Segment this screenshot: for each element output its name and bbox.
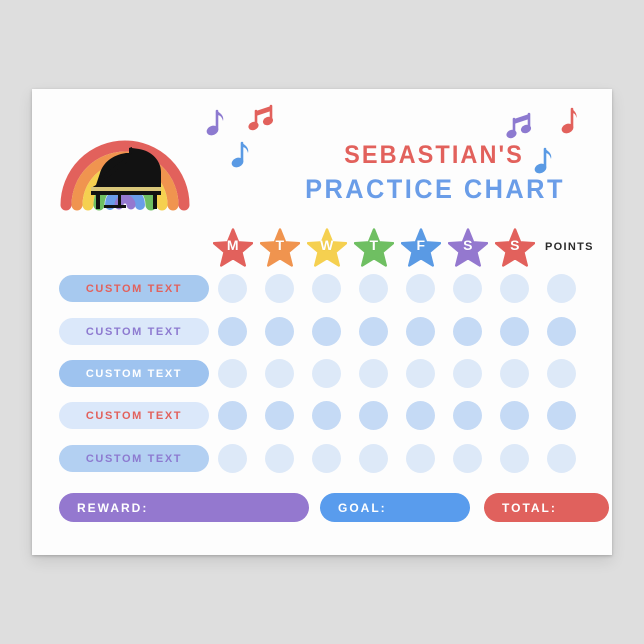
sticker-circle[interactable] bbox=[359, 274, 388, 303]
sticker-circle[interactable] bbox=[359, 317, 388, 346]
star-saturday: S bbox=[448, 228, 488, 268]
sticker-circle[interactable] bbox=[453, 359, 482, 388]
custom-text-label-5[interactable]: CUSTOM TEXT bbox=[59, 445, 209, 472]
sticker-circle[interactable] bbox=[359, 444, 388, 473]
star-letter: S bbox=[448, 237, 488, 253]
star-letter: M bbox=[213, 237, 253, 253]
sticker-circle[interactable] bbox=[312, 274, 341, 303]
music-note-right-purple bbox=[508, 109, 536, 141]
sticker-circle[interactable] bbox=[359, 359, 388, 388]
sticker-circle[interactable] bbox=[547, 274, 576, 303]
sticker-circle[interactable] bbox=[453, 317, 482, 346]
points-column-label: POINTS bbox=[545, 241, 594, 253]
star-letter: T bbox=[260, 237, 300, 253]
sticker-circle[interactable] bbox=[547, 401, 576, 430]
page-title-name: SEBASTIAN'S bbox=[302, 141, 565, 170]
music-note-left-red bbox=[250, 101, 278, 133]
sticker-circle[interactable] bbox=[500, 444, 529, 473]
star-friday: F bbox=[401, 228, 441, 268]
star-letter: S bbox=[495, 237, 535, 253]
custom-text-label-2[interactable]: CUSTOM TEXT bbox=[59, 318, 209, 345]
sticker-circle[interactable] bbox=[265, 274, 294, 303]
sticker-circle[interactable] bbox=[218, 274, 247, 303]
page-title-subtitle: PRACTICE CHART bbox=[299, 174, 572, 205]
sticker-circle[interactable] bbox=[453, 401, 482, 430]
sticker-circle[interactable] bbox=[500, 359, 529, 388]
star-sunday: S bbox=[495, 228, 535, 268]
sticker-circle[interactable] bbox=[218, 359, 247, 388]
music-note-left-purple bbox=[204, 109, 226, 139]
poster-preview-canvas: SEBASTIAN'S PRACTICE CHART MTWTFSSPOINTS… bbox=[0, 0, 644, 644]
goal-field[interactable]: GOAL: bbox=[320, 493, 470, 522]
sticker-circle[interactable] bbox=[359, 401, 388, 430]
star-tuesday: T bbox=[260, 228, 300, 268]
music-note-left-blue bbox=[229, 141, 251, 171]
star-letter: T bbox=[354, 237, 394, 253]
sticker-circle[interactable] bbox=[453, 444, 482, 473]
sticker-circle[interactable] bbox=[547, 359, 576, 388]
sticker-circle[interactable] bbox=[500, 401, 529, 430]
sticker-circle[interactable] bbox=[406, 359, 435, 388]
sticker-circle[interactable] bbox=[406, 274, 435, 303]
total-field[interactable]: TOTAL: bbox=[484, 493, 609, 522]
sticker-circle[interactable] bbox=[218, 317, 247, 346]
custom-text-label-3[interactable]: CUSTOM TEXT bbox=[59, 360, 209, 387]
custom-text-label-4[interactable]: CUSTOM TEXT bbox=[59, 402, 209, 429]
sticker-circle[interactable] bbox=[547, 444, 576, 473]
sticker-circle[interactable] bbox=[312, 359, 341, 388]
custom-text-label-1[interactable]: CUSTOM TEXT bbox=[59, 275, 209, 302]
star-wednesday: W bbox=[307, 228, 347, 268]
sticker-circle[interactable] bbox=[312, 317, 341, 346]
sticker-circle[interactable] bbox=[265, 401, 294, 430]
sticker-circle[interactable] bbox=[265, 444, 294, 473]
sticker-circle[interactable] bbox=[453, 274, 482, 303]
star-monday: M bbox=[213, 228, 253, 268]
sticker-circle[interactable] bbox=[218, 444, 247, 473]
star-thursday: T bbox=[354, 228, 394, 268]
reward-field[interactable]: REWARD: bbox=[59, 493, 309, 522]
sticker-circle[interactable] bbox=[406, 401, 435, 430]
sticker-circle[interactable] bbox=[406, 317, 435, 346]
sticker-circle[interactable] bbox=[500, 317, 529, 346]
practice-chart-poster: SEBASTIAN'S PRACTICE CHART MTWTFSSPOINTS… bbox=[32, 89, 612, 555]
sticker-circle[interactable] bbox=[265, 359, 294, 388]
rainbow-piano-artwork bbox=[60, 117, 190, 212]
music-note-right-red bbox=[559, 107, 581, 137]
sticker-circle[interactable] bbox=[312, 444, 341, 473]
sticker-circle[interactable] bbox=[547, 317, 576, 346]
sticker-circle[interactable] bbox=[500, 274, 529, 303]
sticker-circle[interactable] bbox=[265, 317, 294, 346]
sticker-circle[interactable] bbox=[218, 401, 247, 430]
star-letter: F bbox=[401, 237, 441, 253]
sticker-circle[interactable] bbox=[312, 401, 341, 430]
star-letter: W bbox=[307, 237, 347, 253]
sticker-circle[interactable] bbox=[406, 444, 435, 473]
